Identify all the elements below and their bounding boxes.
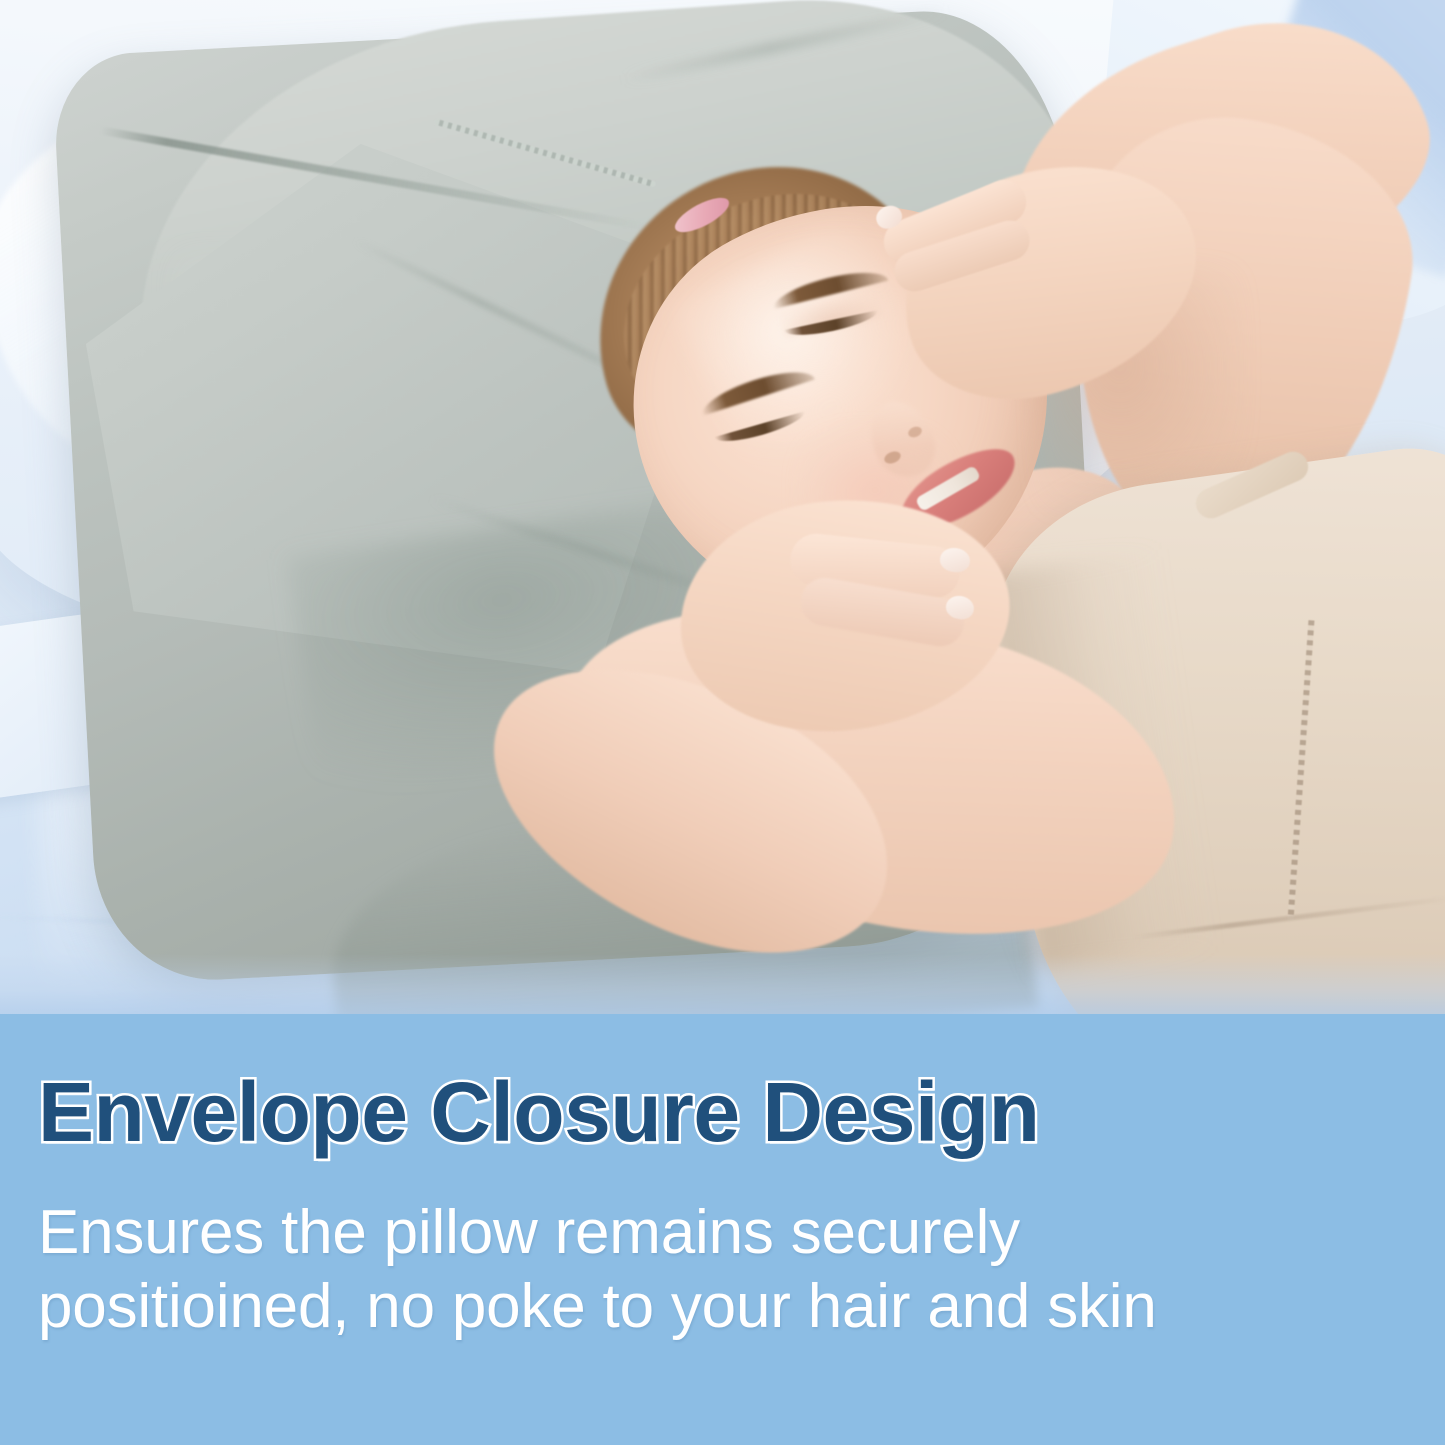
caption-banner-inner: Envelope Closure Design Ensures the pill… <box>38 1014 1415 1445</box>
caption-banner: Envelope Closure Design Ensures the pill… <box>0 1014 1445 1445</box>
product-feature-card: Envelope Closure Design Ensures the pill… <box>0 0 1445 1445</box>
caption-subtitle: Ensures the pillow remains securely posi… <box>38 1196 1157 1344</box>
caption-subtitle-line-1: Ensures the pillow remains securely <box>38 1196 1157 1270</box>
page-title: Envelope Closure Design <box>38 1066 1039 1158</box>
photo-bottom-fade <box>0 954 1445 1014</box>
caption-subtitle-line-2: positioined, no poke to your hair and sk… <box>38 1270 1157 1344</box>
lifestyle-photo <box>0 0 1445 1014</box>
